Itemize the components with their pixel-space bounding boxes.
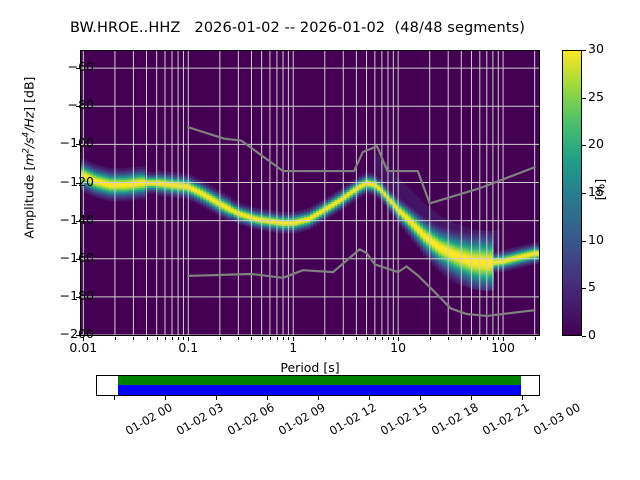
x-axis-label: Period [s] xyxy=(80,360,540,375)
x-axis-minor-tick xyxy=(356,337,357,340)
timeline-tick-mark xyxy=(471,396,472,400)
x-axis-tick-mark xyxy=(188,337,189,341)
coverage-segment-green xyxy=(118,376,522,385)
timeline-tick-mark xyxy=(216,396,217,400)
y-axis-tick-mark xyxy=(76,297,80,298)
y-axis-tick-mark xyxy=(76,259,80,260)
x-axis-minor-tick xyxy=(262,337,263,340)
x-axis-minor-tick xyxy=(448,337,449,340)
colorbar-tick-mark xyxy=(582,193,586,194)
x-axis-minor-tick xyxy=(147,337,148,340)
colorbar-label: [%] xyxy=(593,150,608,230)
x-axis-tick-label: 1 xyxy=(263,340,323,355)
x-axis-minor-tick xyxy=(178,337,179,340)
colorbar-tick-mark xyxy=(582,98,586,99)
timeline-tick-label: 01-02 03 xyxy=(174,400,226,438)
x-axis-minor-tick xyxy=(430,337,431,340)
x-axis-minor-tick xyxy=(288,337,289,340)
x-axis-tick-mark xyxy=(293,337,294,341)
x-axis-minor-tick xyxy=(471,337,472,340)
timeline-tick-label: 01-02 06 xyxy=(225,400,277,438)
x-axis-minor-tick xyxy=(183,337,184,340)
x-axis-minor-tick xyxy=(480,337,481,340)
colorbar[interactable] xyxy=(562,50,582,336)
x-axis-minor-tick xyxy=(343,337,344,340)
y-axis-tick-mark xyxy=(76,68,80,69)
y-axis-tick-mark xyxy=(76,183,80,184)
x-axis-minor-tick xyxy=(238,337,239,340)
page-title: BW.HROE..HHZ 2026-01-02 -- 2026-01-02 (4… xyxy=(0,20,595,36)
data-coverage-bar[interactable] xyxy=(96,375,540,396)
timeline-tick-mark xyxy=(318,396,319,400)
colorbar-tick-mark xyxy=(582,336,586,337)
x-axis-minor-tick xyxy=(535,337,536,340)
ppsd-plot-area[interactable] xyxy=(80,50,540,336)
colorbar-tick-mark xyxy=(582,50,586,51)
ppsd-figure: BW.HROE..HHZ 2026-01-02 -- 2026-01-02 (4… xyxy=(0,0,640,480)
y-axis-label-text: Amplitude [m2/s4/Hz] [dB] xyxy=(22,77,37,239)
x-axis-minor-tick xyxy=(157,337,158,340)
x-axis-tick-label: 10 xyxy=(368,340,428,355)
x-axis-tick-label: 0.1 xyxy=(158,340,218,355)
x-axis-tick-mark xyxy=(503,337,504,341)
y-axis-tick-label: −180 xyxy=(24,290,94,302)
y-axis-tick-mark xyxy=(76,221,80,222)
x-axis-minor-tick xyxy=(367,337,368,340)
timeline-tick-label: 01-02 12 xyxy=(327,400,379,438)
y-axis-tick-mark xyxy=(76,144,80,145)
timeline-tick-mark xyxy=(369,396,370,400)
colorbar-tick-label: 5 xyxy=(588,281,596,293)
x-axis-minor-tick xyxy=(270,337,271,340)
x-axis-minor-tick xyxy=(388,337,389,340)
x-axis-minor-tick xyxy=(325,337,326,340)
colorbar-tick-label: 10 xyxy=(588,234,604,246)
x-axis-minor-tick xyxy=(382,337,383,340)
colorbar-tick-label: 30 xyxy=(588,43,604,55)
ppsd-histogram-canvas xyxy=(81,51,539,335)
timeline-tick-label: 01-02 21 xyxy=(480,400,532,438)
timeline-tick-mark xyxy=(522,396,523,400)
colorbar-tick-mark xyxy=(582,288,586,289)
timeline-tick-label: 01-02 09 xyxy=(276,400,328,438)
x-axis-minor-tick xyxy=(393,337,394,340)
x-axis-minor-tick xyxy=(283,337,284,340)
x-axis-minor-tick xyxy=(165,337,166,340)
x-axis-minor-tick xyxy=(498,337,499,340)
colorbar-tick-mark xyxy=(582,145,586,146)
y-axis-tick-mark xyxy=(76,335,80,336)
x-axis-tick-label: 0.01 xyxy=(53,340,113,355)
colorbar-tick-label: 0 xyxy=(588,329,596,341)
x-axis-minor-tick xyxy=(375,337,376,340)
y-axis-label: Amplitude [m2/s4/Hz] [dB] xyxy=(21,33,36,283)
timeline-tick-label: 01-03 00 xyxy=(531,400,583,438)
x-axis-minor-tick xyxy=(487,337,488,340)
timeline-tick-label: 01-02 15 xyxy=(378,400,430,438)
x-axis-minor-tick xyxy=(115,337,116,340)
x-axis-minor-tick xyxy=(493,337,494,340)
x-axis-minor-tick xyxy=(133,337,134,340)
colorbar-tick-mark xyxy=(582,241,586,242)
timeline-tick-label: 01-02 18 xyxy=(429,400,481,438)
timeline-tick-mark xyxy=(267,396,268,400)
timeline-tick-mark xyxy=(165,396,166,400)
timeline-tick-mark xyxy=(114,396,115,400)
x-axis-minor-tick xyxy=(220,337,221,340)
colorbar-tick-label: 25 xyxy=(588,91,604,103)
timeline-tick-label: 01-02 00 xyxy=(123,400,175,438)
x-axis-minor-tick xyxy=(277,337,278,340)
x-axis-minor-tick xyxy=(461,337,462,340)
x-axis-tick-label: 100 xyxy=(473,340,533,355)
x-axis-minor-tick xyxy=(172,337,173,340)
y-axis-tick-mark xyxy=(76,106,80,107)
timeline-tick-mark xyxy=(420,396,421,400)
x-axis-minor-tick xyxy=(251,337,252,340)
coverage-segment-blue xyxy=(118,385,522,395)
x-axis-tick-mark xyxy=(398,337,399,341)
x-axis-tick-mark xyxy=(83,337,84,341)
